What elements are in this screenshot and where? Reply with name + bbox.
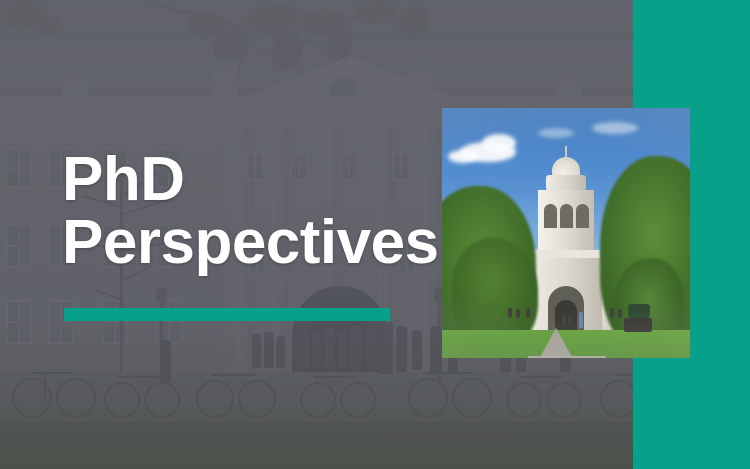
inset-person [568,315,572,326]
inset-person [579,312,583,328]
inset-pathway [534,328,578,358]
presentation-slide: PhD Perspectives [0,0,750,469]
inset-campanile-photo [442,108,690,358]
inset-person [610,308,614,318]
campanile-belfry-arch [560,204,573,228]
inset-parked-car [628,304,650,318]
inset-person [618,309,622,318]
campanile-belfry-arch [576,204,589,228]
page-title-line-2: Perspectives [62,211,462,274]
campanile-dome [552,157,580,177]
inset-person [508,308,512,318]
teal-underline-rule [64,308,390,321]
inset-person [562,314,566,326]
page-title: PhD Perspectives [62,148,462,274]
inset-person [526,308,530,318]
inset-plinth [624,318,652,332]
cloud [592,122,638,134]
inset-person [516,309,520,318]
inset-lawn-right [560,330,690,358]
cloud [482,134,516,152]
inset-pathway-foreground [528,356,606,358]
campanile-belfry-arch [544,204,557,228]
cloud [538,128,574,138]
campanile-drum [546,175,586,191]
page-title-line-1: PhD [62,148,462,211]
